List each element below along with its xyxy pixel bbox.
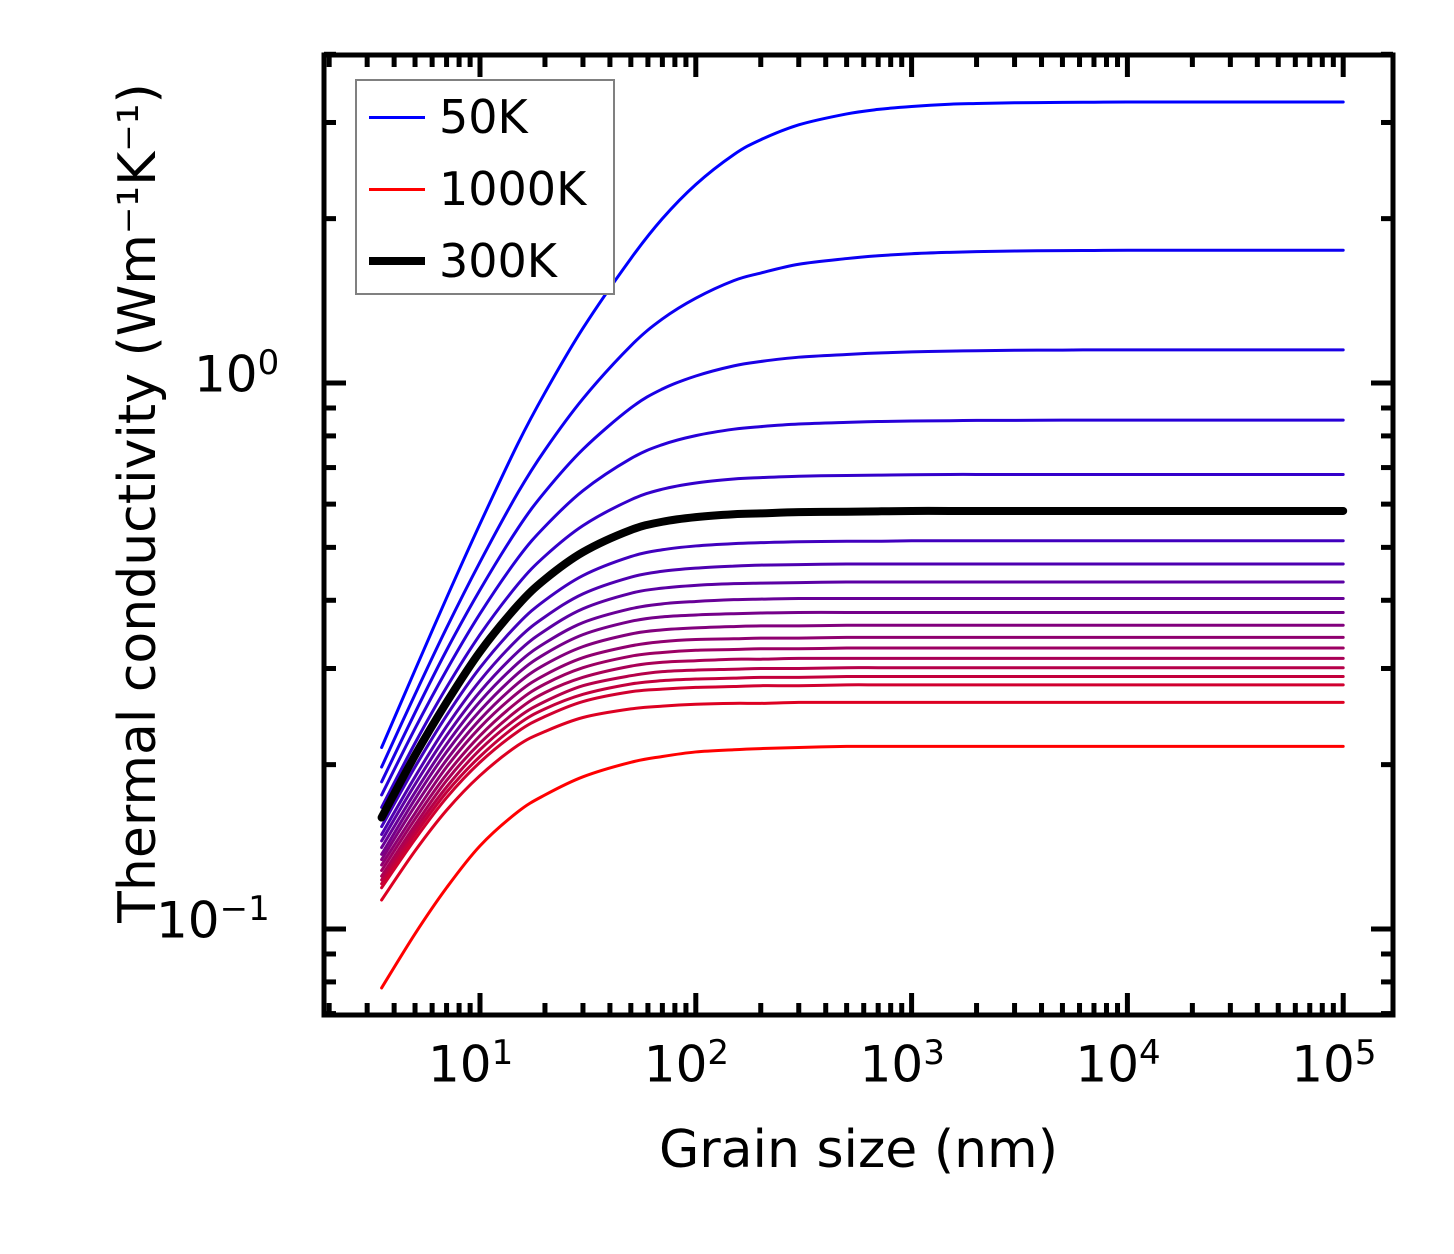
ytick-minor-right-0.09 — [1381, 951, 1393, 956]
tick-exponent: 2 — [707, 1033, 729, 1073]
xtick-major-top-1000 — [909, 55, 914, 77]
xtick-minor-top-40 — [607, 55, 612, 67]
xtick-minor-900 — [899, 1003, 904, 1015]
curve-1000k — [382, 746, 1344, 988]
xtick-minor-top-400 — [823, 55, 828, 67]
ytick-minor-0.07 — [324, 1011, 336, 1016]
ytick-minor-0.5 — [324, 545, 336, 550]
xtick-minor-top-20000 — [1190, 55, 1195, 67]
ytick-minor-0.6000000000000001 — [324, 502, 336, 507]
xtick-minor-top-9000 — [1115, 55, 1120, 67]
xtick-minor-top-800 — [888, 55, 893, 67]
xtick-minor-top-9 — [468, 55, 473, 67]
xtick-minor-top-700 — [876, 55, 881, 67]
curve-650k — [382, 637, 1344, 865]
xtick-minor-top-200 — [758, 55, 763, 67]
xtick-major-100 — [693, 993, 698, 1015]
xtick-minor-top-40000 — [1255, 55, 1260, 67]
xtick-minor-60000 — [1293, 1003, 1298, 1015]
ytick-minor-right-2 — [1381, 216, 1393, 221]
xtick-minor-7000 — [1091, 1003, 1096, 1015]
xtick-major-top-100000 — [1341, 55, 1346, 77]
xtick-minor-70 — [660, 1003, 665, 1015]
xtick-minor-40 — [607, 1003, 612, 1015]
xtick-minor-top-8 — [457, 55, 462, 67]
ytick-minor-0.2 — [324, 762, 336, 767]
xtick-minor-top-60000 — [1293, 55, 1298, 67]
ytick-minor-right-0.8 — [1381, 433, 1393, 438]
tick-mantissa: 10 — [860, 1036, 924, 1094]
legend-entry-2: 300K — [357, 225, 613, 297]
xtick-major-10 — [478, 993, 483, 1015]
tick-mantissa: 10 — [428, 1036, 492, 1094]
ytick-minor-right-0.2 — [1381, 762, 1393, 767]
xtick-minor-top-3000 — [1012, 55, 1017, 67]
ytick-minor-right-0.4 — [1381, 598, 1393, 603]
xtick-minor-top-600 — [861, 55, 866, 67]
curve-950k — [382, 702, 1344, 900]
ytick-minor-0.09 — [324, 951, 336, 956]
ytick-major-0.1 — [324, 927, 346, 932]
tick-exponent: 3 — [923, 1033, 945, 1073]
legend-swatch-300k — [369, 257, 425, 265]
ytick-minor-right-3 — [1381, 120, 1393, 125]
xtick-minor-90 — [683, 1003, 688, 1015]
xtick-minor-60 — [645, 1003, 650, 1015]
ytick-minor-3 — [324, 120, 336, 125]
x-tick-label-100: 102 — [644, 1033, 729, 1094]
xtick-minor-20000 — [1190, 1003, 1195, 1015]
xtick-minor-top-80000 — [1320, 55, 1325, 67]
xtick-minor-800 — [888, 1003, 893, 1015]
curve-250k — [382, 474, 1344, 807]
legend-swatch-1000k — [369, 188, 425, 191]
xtick-major-top-10 — [478, 55, 483, 77]
ytick-minor-0.30000000000000004 — [324, 666, 336, 671]
xtick-minor-300 — [796, 1003, 801, 1015]
xtick-minor-3 — [365, 1003, 370, 1015]
xtick-minor-top-20 — [542, 55, 547, 67]
tick-mantissa: 10 — [194, 346, 258, 404]
xtick-minor-80000 — [1320, 1003, 1325, 1015]
ytick-minor-0.8 — [324, 433, 336, 438]
ytick-major-right-1 — [1371, 381, 1393, 386]
xtick-minor-top-5 — [413, 55, 418, 67]
xtick-minor-30 — [580, 1003, 585, 1015]
x-tick-label-100000: 105 — [1291, 1033, 1376, 1094]
xtick-minor-40000 — [1255, 1003, 1260, 1015]
tick-mantissa: 10 — [644, 1036, 708, 1094]
xtick-minor-top-90 — [683, 55, 688, 67]
tick-exponent: 1 — [492, 1033, 514, 1073]
xtick-minor-5000 — [1060, 1003, 1065, 1015]
tick-exponent: 0 — [258, 343, 280, 383]
ytick-minor-right-4 — [1381, 52, 1393, 57]
xtick-minor-top-900 — [899, 55, 904, 67]
xtick-minor-5 — [413, 1003, 418, 1015]
xtick-minor-9 — [468, 1003, 473, 1015]
xtick-minor-top-30 — [580, 55, 585, 67]
xtick-minor-top-3 — [365, 55, 370, 67]
xtick-minor-top-6000 — [1077, 55, 1082, 67]
xtick-minor-top-30000 — [1228, 55, 1233, 67]
axis-spine-left — [322, 53, 327, 1018]
xtick-minor-7 — [444, 1003, 449, 1015]
ytick-minor-2 — [324, 216, 336, 221]
legend-swatch-50k — [369, 116, 425, 119]
ytick-minor-right-0.6000000000000001 — [1381, 502, 1393, 507]
xtick-minor-50000 — [1276, 1003, 1281, 1015]
xtick-minor-6000 — [1077, 1003, 1082, 1015]
tick-mantissa: 10 — [1075, 1036, 1139, 1094]
curve-400k — [382, 564, 1344, 834]
xtick-minor-top-5000 — [1060, 55, 1065, 67]
xtick-minor-top-4 — [392, 55, 397, 67]
xtick-minor-80 — [672, 1003, 677, 1015]
xtick-minor-600 — [861, 1003, 866, 1015]
tick-mantissa: 10 — [156, 892, 220, 950]
xtick-minor-200 — [758, 1003, 763, 1015]
xtick-minor-top-7 — [444, 55, 449, 67]
curve-300k — [382, 511, 1344, 818]
xtick-major-1000 — [909, 993, 914, 1015]
ytick-minor-right-0.07 — [1381, 1011, 1393, 1016]
ytick-minor-0.4 — [324, 598, 336, 603]
ytick-major-right-0.1 — [1371, 927, 1393, 932]
xtick-minor-8 — [457, 1003, 462, 1015]
ytick-minor-right-0.08 — [1381, 979, 1393, 984]
tick-exponent: 4 — [1139, 1033, 1161, 1073]
ytick-minor-4 — [324, 52, 336, 57]
xtick-minor-70000 — [1307, 1003, 1312, 1015]
xtick-minor-90000 — [1331, 1003, 1336, 1015]
xtick-minor-2000 — [974, 1003, 979, 1015]
xtick-major-10000 — [1125, 993, 1130, 1015]
xtick-major-top-100 — [693, 55, 698, 77]
x-axis-label: Grain size (nm) — [324, 1120, 1393, 1180]
legend-label-300k: 300K — [439, 234, 557, 288]
ytick-minor-0.08 — [324, 979, 336, 984]
x-tick-label-1000: 103 — [860, 1033, 945, 1094]
xtick-minor-700 — [876, 1003, 881, 1015]
y-tick-label-0.1: 10−1 — [156, 889, 270, 950]
xtick-minor-top-70000 — [1307, 55, 1312, 67]
xtick-minor-top-50000 — [1276, 55, 1281, 67]
tick-exponent: −1 — [220, 889, 270, 929]
xtick-minor-20 — [542, 1003, 547, 1015]
axis-spine-right — [1391, 53, 1396, 1018]
ytick-minor-0.7000000000000001 — [324, 465, 336, 470]
xtick-minor-top-50 — [628, 55, 633, 67]
curve-150k — [382, 350, 1344, 782]
curve-850k — [382, 676, 1344, 883]
xtick-minor-top-70 — [660, 55, 665, 67]
xtick-minor-3000 — [1012, 1003, 1017, 1015]
ytick-major-1 — [324, 381, 346, 386]
y-axis-label: Thermal conductivity (Wm⁻¹K⁻¹) — [92, 0, 184, 1038]
xtick-minor-4000 — [1039, 1003, 1044, 1015]
ytick-minor-0.9 — [324, 405, 336, 410]
curve-700k — [382, 648, 1344, 870]
xtick-minor-6 — [430, 1003, 435, 1015]
xtick-minor-top-4000 — [1039, 55, 1044, 67]
ytick-minor-right-0.9 — [1381, 405, 1393, 410]
xtick-minor-top-60 — [645, 55, 650, 67]
xtick-minor-top-2000 — [974, 55, 979, 67]
curve-500k — [382, 598, 1344, 847]
curve-800k — [382, 668, 1344, 880]
x-tick-label-10000: 104 — [1075, 1033, 1160, 1094]
figure-canvas: 50K 1000K 300K Thermal conductivity (Wm⁻… — [0, 0, 1454, 1254]
y-tick-label-1: 100 — [194, 343, 279, 404]
xtick-minor-top-2 — [327, 55, 332, 67]
xtick-minor-50 — [628, 1003, 633, 1015]
ytick-minor-right-0.5 — [1381, 545, 1393, 550]
ytick-minor-right-0.30000000000000004 — [1381, 666, 1393, 671]
x-tick-label-10: 101 — [428, 1033, 513, 1094]
tick-mantissa: 10 — [1291, 1036, 1355, 1094]
xtick-minor-top-7000 — [1091, 55, 1096, 67]
xtick-minor-9000 — [1115, 1003, 1120, 1015]
curve-900k — [382, 685, 1344, 888]
xtick-minor-4 — [392, 1003, 397, 1015]
ytick-minor-right-0.7000000000000001 — [1381, 465, 1393, 470]
xtick-major-100000 — [1341, 993, 1346, 1015]
xtick-minor-top-6 — [430, 55, 435, 67]
curve-750k — [382, 658, 1344, 876]
xtick-minor-8000 — [1104, 1003, 1109, 1015]
axis-spine-bottom — [322, 1013, 1396, 1018]
legend-box: 50K 1000K 300K — [355, 79, 615, 295]
xtick-minor-top-8000 — [1104, 55, 1109, 67]
legend-entry-0: 50K — [357, 81, 613, 153]
xtick-minor-top-300 — [796, 55, 801, 67]
legend-label-1000k: 1000K — [439, 162, 586, 216]
legend-label-50k: 50K — [439, 90, 528, 144]
xtick-minor-500 — [844, 1003, 849, 1015]
axis-spine-top — [322, 53, 1396, 58]
curve-600k — [382, 625, 1344, 859]
xtick-minor-top-500 — [844, 55, 849, 67]
xtick-minor-400 — [823, 1003, 828, 1015]
xtick-major-top-10000 — [1125, 55, 1130, 77]
xtick-minor-30000 — [1228, 1003, 1233, 1015]
tick-exponent: 5 — [1355, 1033, 1377, 1073]
xtick-minor-top-90000 — [1331, 55, 1336, 67]
xtick-minor-top-80 — [672, 55, 677, 67]
legend-entry-1: 1000K — [357, 153, 613, 225]
